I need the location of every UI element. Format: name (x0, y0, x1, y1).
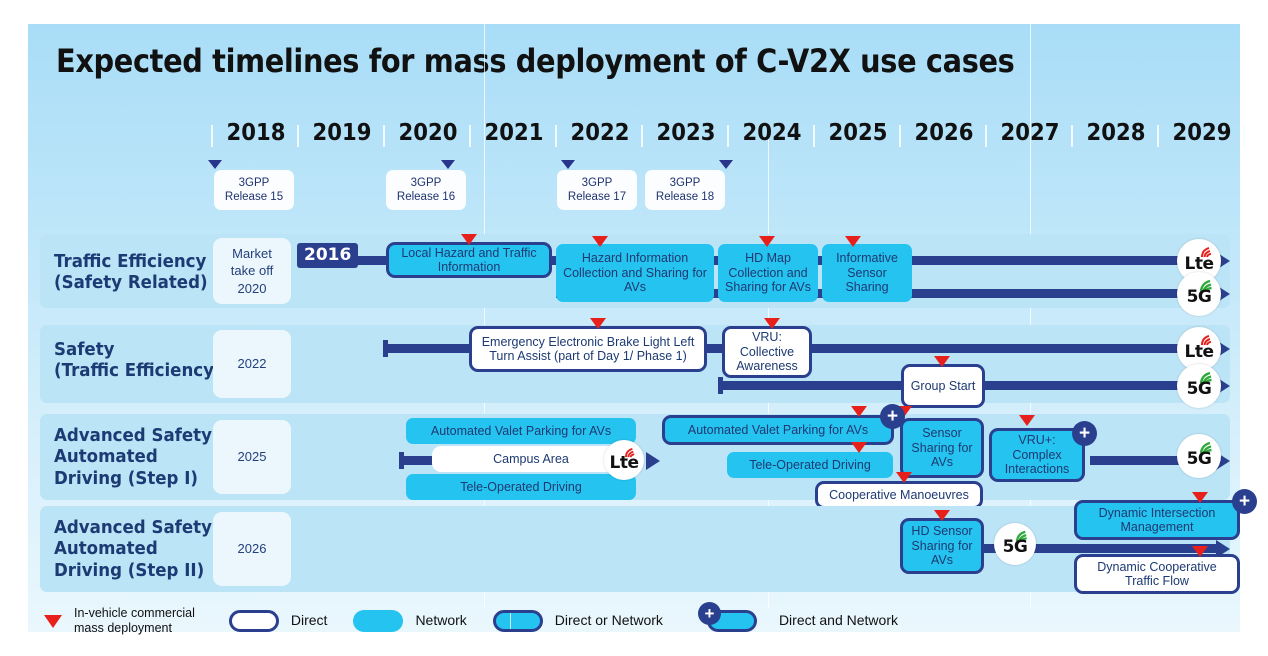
node-vru-collective-awareness[interactable]: VRU: Collective Awareness (722, 326, 812, 378)
lte-badge-label: Lte (610, 453, 639, 473)
direct-and-network-plus-badge: + (880, 404, 905, 429)
row-label-line1: Traffic Efficiency (54, 252, 208, 273)
axis-tick (211, 125, 213, 147)
axis-year-2020: 2020 (388, 120, 467, 146)
release-name: 3GPP (670, 176, 701, 190)
node-tele-operated-driving-left[interactable]: Tele-Operated Driving (406, 474, 636, 500)
deployment-marker (764, 318, 780, 329)
row-label-line3: Driving (Step I) (54, 469, 212, 490)
year-box-line1: 2026 (238, 540, 267, 558)
deployment-marker (851, 406, 867, 417)
row-label-advanced-safety-step2: Advanced Safety Automated Driving (Step … (54, 518, 212, 582)
axis-year-2019: 2019 (302, 120, 381, 146)
deployment-marker (896, 472, 912, 483)
deployment-marker-icon (44, 615, 62, 628)
node-label: Emergency Electronic Brake Light Left Tu… (476, 335, 700, 364)
release-box-18: 3GPP Release 18 (645, 170, 725, 210)
deployment-marker (845, 236, 861, 247)
5g-badge-row3: 5G (1177, 434, 1221, 478)
axis-tick (899, 125, 901, 147)
legend-swatch-direct-and-network: + (707, 610, 757, 632)
node-hd-sensor-sharing-for-avs[interactable]: HD Sensor Sharing for AVs (900, 518, 984, 574)
legend-deployment-line2: mass deployment (74, 621, 195, 636)
legend-item-direct-or-network: Direct or Network (493, 610, 663, 632)
release-box-16: 3GPP Release 16 (386, 170, 466, 210)
axis-tick (813, 125, 815, 147)
row-label-line1: Safety (54, 340, 222, 361)
row-year-box-advanced-safety-step2: 2026 (213, 512, 291, 586)
row-label-line2: Automated (54, 539, 212, 560)
node-group-start[interactable]: Group Start (901, 364, 985, 408)
lte-badge-label: Lte (1185, 254, 1214, 274)
year-box-line1: 2022 (238, 355, 267, 373)
year-box-line2: take off (231, 262, 273, 280)
row-year-box-advanced-safety-step1: 2025 (213, 420, 291, 494)
5g-badge-row1: 5G (1177, 272, 1221, 316)
legend-swatch-direct-or-network (493, 610, 543, 632)
axis-year-2022: 2022 (560, 120, 639, 146)
plus-icon: + (698, 602, 721, 625)
release-version: Release 18 (656, 190, 714, 204)
axis-year-2023: 2023 (646, 120, 725, 146)
row-label-line3: Driving (Step II) (54, 561, 212, 582)
deployment-marker (1192, 492, 1208, 503)
release-marker-triangle-16 (441, 160, 455, 169)
legend-item-network: Network (353, 610, 466, 632)
legend-label-deployment: In-vehicle commercial mass deployment (74, 606, 195, 637)
node-local-hazard-traffic-info[interactable]: Local Hazard and Traffic Information (386, 242, 552, 278)
axis-year-2021: 2021 (474, 120, 553, 146)
axis-tick (985, 125, 987, 147)
5g-badge-row4: 5G (994, 523, 1036, 565)
release-marker-triangle-17 (561, 160, 575, 169)
legend-item-direct: Direct (229, 610, 328, 632)
row-label-line2: (Traffic Efficiency) (54, 361, 222, 382)
release-name: 3GPP (582, 176, 613, 190)
axis-year-2025: 2025 (818, 120, 897, 146)
page-title: Expected timelines for mass deployment o… (56, 42, 1046, 86)
axis-year-2024: 2024 (732, 120, 811, 146)
deployment-marker (461, 234, 477, 245)
legend-deployment-line1: In-vehicle commercial (74, 606, 195, 621)
axis-year-2028: 2028 (1076, 120, 1155, 146)
5g-badge-label: 5G (1187, 449, 1212, 469)
node-hd-map-collection-sharing[interactable]: HD Map Collection and Sharing for AVs (718, 244, 818, 302)
node-tele-operated-driving-right[interactable]: Tele-Operated Driving (727, 452, 893, 478)
year-box-line1: Market (232, 245, 272, 263)
node-vru-plus-complex-interactions[interactable]: VRU+: Complex Interactions (989, 428, 1085, 482)
deployment-marker (590, 318, 606, 329)
year-box-line1: 2025 (238, 448, 267, 466)
5g-badge-label: 5G (1187, 379, 1212, 399)
node-automated-valet-parking-right[interactable]: Automated Valet Parking for AVs (662, 415, 894, 445)
row-year-box-traffic-efficiency: Market take off 2020 (213, 238, 291, 304)
axis-tick (1243, 125, 1245, 147)
swatch-split-line (510, 613, 511, 629)
node-sensor-sharing-for-avs[interactable]: Sensor Sharing for AVs (900, 418, 984, 478)
deployment-marker (1019, 415, 1035, 426)
legend-item-direct-and-network: + Direct and Network (707, 610, 898, 632)
axis-tick (1157, 125, 1159, 147)
release-name: 3GPP (239, 176, 270, 190)
legend: In-vehicle commercial mass deployment Di… (44, 600, 1224, 642)
legend-item-deployment: In-vehicle commercial mass deployment (44, 606, 195, 637)
row-label-line1: Advanced Safety (54, 518, 212, 539)
deployment-marker (851, 442, 867, 453)
axis-tick (383, 125, 385, 147)
row-label-line2: Automated (54, 447, 212, 468)
node-informative-sensor-sharing[interactable]: Informative Sensor Sharing (822, 244, 912, 302)
node-dynamic-cooperative-traffic-flow[interactable]: Dynamic Cooperative Traffic Flow (1074, 554, 1240, 594)
release-marker-triangle-15 (208, 160, 222, 169)
node-hazard-info-collection-sharing[interactable]: Hazard Information Collection and Sharin… (556, 244, 714, 302)
axis-year-2029: 2029 (1162, 120, 1241, 146)
axis-year-2027: 2027 (990, 120, 1069, 146)
release-marker-triangle-18 (719, 160, 733, 169)
row-label-line1: Advanced Safety (54, 426, 212, 447)
legend-label-network: Network (415, 612, 466, 629)
release-version: Release 17 (568, 190, 626, 204)
axis-tick (469, 125, 471, 147)
axis-year-2026: 2026 (904, 120, 983, 146)
rail-arrow-campus-row3 (646, 452, 660, 470)
deployment-marker (934, 510, 950, 521)
axis-tick (641, 125, 643, 147)
node-cooperative-manoeuvres[interactable]: Cooperative Manoeuvres (815, 481, 983, 509)
legend-label-direct-and-network: Direct and Network (779, 612, 898, 629)
row-label-advanced-safety-step1: Advanced Safety Automated Driving (Step … (54, 426, 212, 490)
axis-year-2018: 2018 (216, 120, 295, 146)
5g-badge-label: 5G (1003, 537, 1028, 557)
deployment-marker (759, 236, 775, 247)
direct-and-network-plus-badge: + (1232, 489, 1257, 514)
row-label-line2: (Safety Related) (54, 273, 208, 294)
lte-badge-row3: Lte (604, 440, 644, 480)
release-name: 3GPP (411, 176, 442, 190)
axis-tick (1071, 125, 1073, 147)
legend-swatch-direct (229, 610, 279, 632)
node-campus-area[interactable]: Campus Area (432, 446, 630, 472)
direct-and-network-plus-badge: + (1072, 421, 1097, 446)
infographic-root: Expected timelines for mass deployment o… (0, 0, 1268, 656)
legend-swatch-network (353, 610, 403, 632)
5g-badge-row2: 5G (1177, 364, 1221, 408)
release-box-15: 3GPP Release 15 (214, 170, 294, 210)
row-year-box-safety: 2022 (213, 330, 291, 398)
legend-label-direct-or-network: Direct or Network (555, 612, 663, 629)
legend-label-direct: Direct (291, 612, 328, 629)
release-version: Release 15 (225, 190, 283, 204)
release-box-17: 3GPP Release 17 (557, 170, 637, 210)
year-box-line3: 2020 (238, 280, 267, 298)
lte-badge-label: Lte (1185, 342, 1214, 362)
node-emergency-brake-light-left-turn-assist[interactable]: Emergency Electronic Brake Light Left Tu… (469, 326, 707, 372)
axis-tick (297, 125, 299, 147)
start-year-tag: 2016 (297, 243, 358, 268)
node-automated-valet-parking-left[interactable]: Automated Valet Parking for AVs (406, 418, 636, 444)
year-axis: 2018 2019 2020 2021 2022 2023 2024 2025 … (0, 120, 1268, 154)
axis-tick (555, 125, 557, 147)
axis-tick (727, 125, 729, 147)
5g-badge-label: 5G (1187, 287, 1212, 307)
node-dynamic-intersection-management[interactable]: Dynamic Intersection Management (1074, 500, 1240, 540)
deployment-marker (1192, 546, 1208, 557)
deployment-marker (934, 356, 950, 367)
release-version: Release 16 (397, 190, 455, 204)
row-label-traffic-efficiency: Traffic Efficiency (Safety Related) (54, 252, 208, 295)
row-label-safety: Safety (Traffic Efficiency) (54, 340, 222, 383)
deployment-marker (592, 236, 608, 247)
